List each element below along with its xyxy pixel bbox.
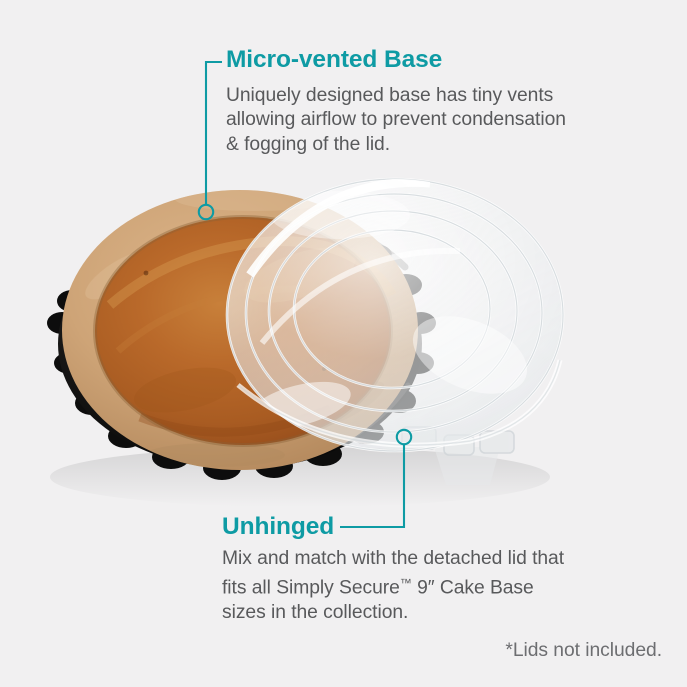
callout-heading-micro-vented-base: Micro-vented Base — [226, 46, 442, 74]
callout-body-micro-vented-base: Uniquely designed base has tiny vents al… — [226, 84, 566, 157]
footnote-lids-not-included: *Lids not included. — [505, 640, 662, 662]
infographic-canvas: Micro-vented Base Uniquely designed base… — [0, 0, 687, 687]
callout-heading-unhinged: Unhinged — [222, 513, 334, 541]
product-photo — [0, 155, 687, 515]
trademark-symbol: ™ — [400, 576, 412, 590]
callout-body-unhinged: Mix and match with the detached lid that… — [222, 547, 567, 626]
